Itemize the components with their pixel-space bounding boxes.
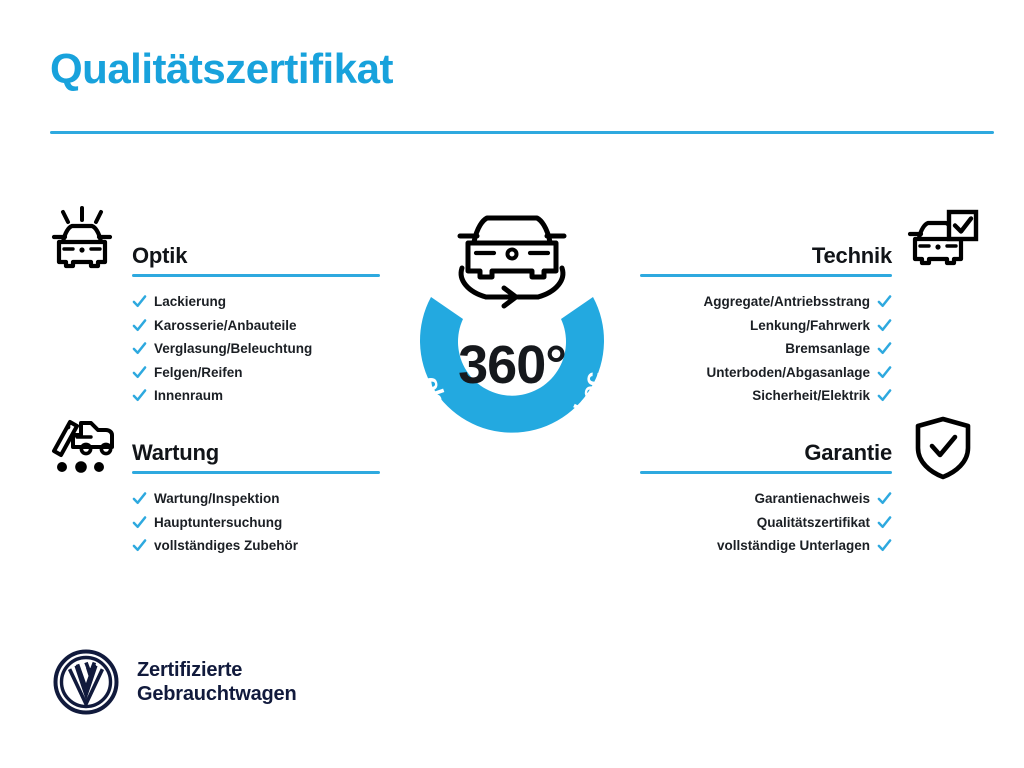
section-title-technik: Technik — [812, 243, 892, 269]
title-divider — [50, 131, 994, 134]
check-icon — [877, 341, 892, 356]
check-icon — [877, 491, 892, 506]
list-item-label: Wartung/Inspektion — [154, 492, 280, 506]
check-icon — [132, 491, 147, 506]
list-item: Aggregate/Antriebsstrang — [640, 290, 892, 314]
list-item-label: vollständiges Zubehör — [154, 539, 298, 553]
list-item: Sicherheit/Elektrik — [640, 384, 892, 408]
check-icon — [877, 515, 892, 530]
list-item: Lackierung — [132, 290, 380, 314]
list-item: Felgen/Reifen — [132, 361, 380, 385]
section-divider — [132, 274, 380, 277]
check-icon — [877, 294, 892, 309]
badge-center-label: 360° — [376, 338, 648, 392]
section-optik: Optik Lackierung Karosserie/Anbauteile V… — [132, 237, 380, 408]
list-item: Hauptuntersuchung — [132, 511, 380, 535]
checklist-wartung: Wartung/Inspektion Hauptuntersuchung vol… — [132, 487, 380, 558]
vw-lockup-line1: Zertifizierte — [137, 658, 296, 682]
check-icon — [877, 365, 892, 380]
section-divider — [132, 471, 380, 474]
list-item: Wartung/Inspektion — [132, 487, 380, 511]
vw-logo-icon — [52, 648, 120, 716]
check-icon — [877, 318, 892, 333]
check-icon — [132, 365, 147, 380]
check-icon — [132, 538, 147, 553]
check-icon — [132, 294, 147, 309]
list-item-label: Innenraum — [154, 389, 223, 403]
list-item-label: Garantienachweis — [754, 492, 870, 506]
section-header: Garantie — [640, 434, 892, 474]
car-on-lift-icon — [46, 414, 118, 476]
section-divider — [640, 274, 892, 277]
check-icon — [877, 388, 892, 403]
check-icon — [132, 388, 147, 403]
section-header: Optik — [132, 237, 380, 277]
check-icon — [877, 538, 892, 553]
checklist-garantie: Garantienachweis Qualitätszertifikat vol… — [640, 487, 892, 558]
list-item: vollständiges Zubehör — [132, 534, 380, 558]
check-icon — [132, 318, 147, 333]
list-item: Garantienachweis — [640, 487, 892, 511]
section-header: Wartung — [132, 434, 380, 474]
badge-360-gebrauchtwagen-check: Gebrauchtwagen-Check — [376, 196, 648, 496]
section-title-optik: Optik — [132, 243, 187, 269]
list-item-label: Lenkung/Fahrwerk — [750, 319, 870, 333]
list-item: Innenraum — [132, 384, 380, 408]
list-item-label: Hauptuntersuchung — [154, 516, 282, 530]
section-technik: Technik Aggregate/Antriebsstrang Lenkung… — [640, 237, 892, 408]
list-item-label: Bremsanlage — [785, 342, 870, 356]
car-front-headlights-icon — [46, 204, 118, 272]
section-wartung: Wartung Wartung/Inspektion Hauptuntersuc… — [132, 434, 380, 558]
check-icon — [132, 515, 147, 530]
list-item-label: Aggregate/Antriebsstrang — [703, 295, 870, 309]
list-item: Bremsanlage — [640, 337, 892, 361]
list-item-label: Felgen/Reifen — [154, 366, 243, 380]
section-divider — [640, 471, 892, 474]
vw-lockup-wordmark: Zertifizierte Gebrauchtwagen — [137, 658, 296, 707]
list-item: Verglasung/Beleuchtung — [132, 337, 380, 361]
check-icon — [132, 341, 147, 356]
checklist-technik: Aggregate/Antriebsstrang Lenkung/Fahrwer… — [640, 290, 892, 408]
list-item-label: vollständige Unterlagen — [717, 539, 870, 553]
list-item-label: Sicherheit/Elektrik — [752, 389, 870, 403]
list-item: Unterboden/Abgasanlage — [640, 361, 892, 385]
list-item-label: Karosserie/Anbauteile — [154, 319, 297, 333]
checklist-optik: Lackierung Karosserie/Anbauteile Verglas… — [132, 290, 380, 408]
list-item: Karosserie/Anbauteile — [132, 314, 380, 338]
list-item-label: Unterboden/Abgasanlage — [706, 366, 870, 380]
section-title-wartung: Wartung — [132, 440, 219, 466]
list-item-label: Verglasung/Beleuchtung — [154, 342, 312, 356]
list-item: vollständige Unterlagen — [640, 534, 892, 558]
vw-lockup-line2: Gebrauchtwagen — [137, 682, 296, 706]
list-item: Lenkung/Fahrwerk — [640, 314, 892, 338]
vw-certified-lockup: Zertifizierte Gebrauchtwagen — [52, 648, 296, 716]
page-title: Qualitätszertifikat — [50, 46, 393, 92]
certificate-page: Qualitätszertifikat — [0, 0, 1024, 768]
section-title-garantie: Garantie — [804, 440, 892, 466]
list-item-label: Qualitätszertifikat — [757, 516, 870, 530]
list-item: Qualitätszertifikat — [640, 511, 892, 535]
car-front-checkbox-icon — [906, 208, 980, 270]
shield-check-icon — [912, 414, 974, 482]
section-garantie: Garantie Garantienachweis Qualitätszerti… — [640, 434, 892, 558]
list-item-label: Lackierung — [154, 295, 226, 309]
section-header: Technik — [640, 237, 892, 277]
